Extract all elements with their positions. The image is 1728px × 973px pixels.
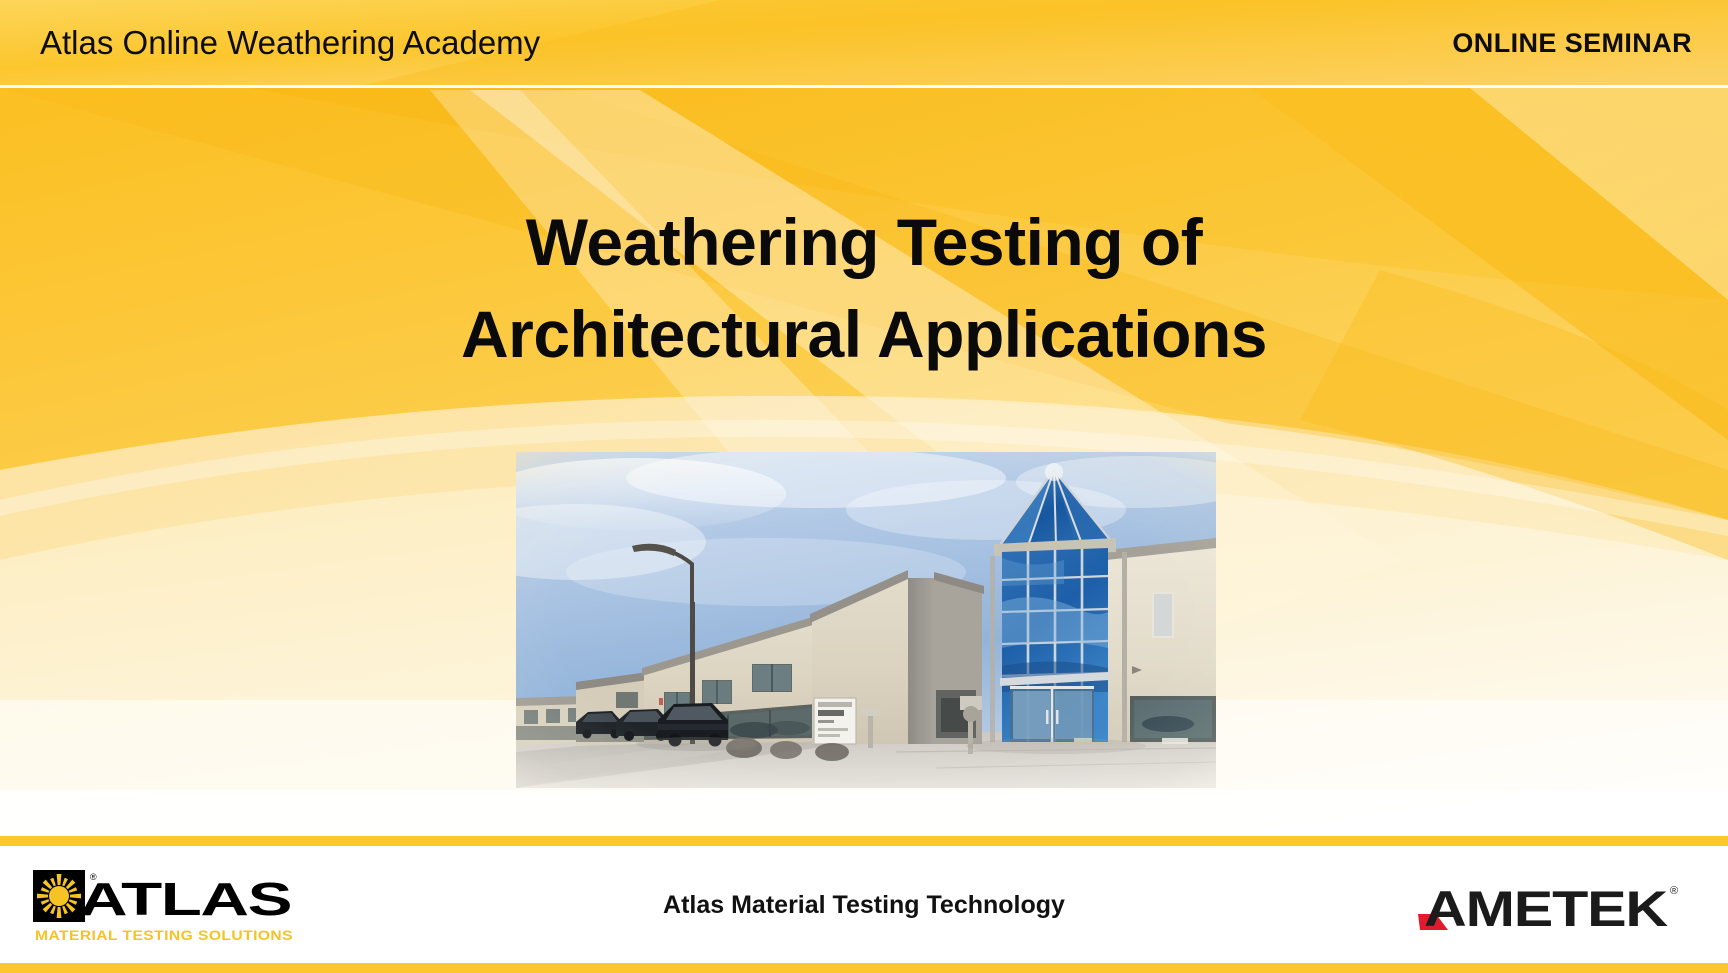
- presentation-slide: Atlas Online Weathering Academy ONLINE S…: [0, 0, 1728, 973]
- footer-company-text: Atlas Material Testing Technology: [663, 891, 1065, 920]
- slide-header: Atlas Online Weathering Academy ONLINE S…: [0, 0, 1728, 86]
- ametek-wordmark: AMETEK: [1424, 881, 1668, 934]
- header-divider-rule: [0, 85, 1728, 88]
- footer-top-accent-bar: [0, 836, 1728, 846]
- building-photo-feathered-frame: [516, 452, 1216, 788]
- footer-bottom-accent-bar: [0, 963, 1728, 973]
- header-brand-title: Atlas Online Weathering Academy: [40, 24, 540, 62]
- slide-footer: ® ATLAS MATERIAL TESTING SOLUTIONS Atlas…: [0, 846, 1728, 965]
- header-eyebrow-label: ONLINE SEMINAR: [1452, 28, 1692, 59]
- building-photo: [516, 452, 1216, 788]
- ametek-logo: AMETEK ®: [1418, 876, 1688, 934]
- ametek-registered-mark: ®: [1670, 885, 1678, 897]
